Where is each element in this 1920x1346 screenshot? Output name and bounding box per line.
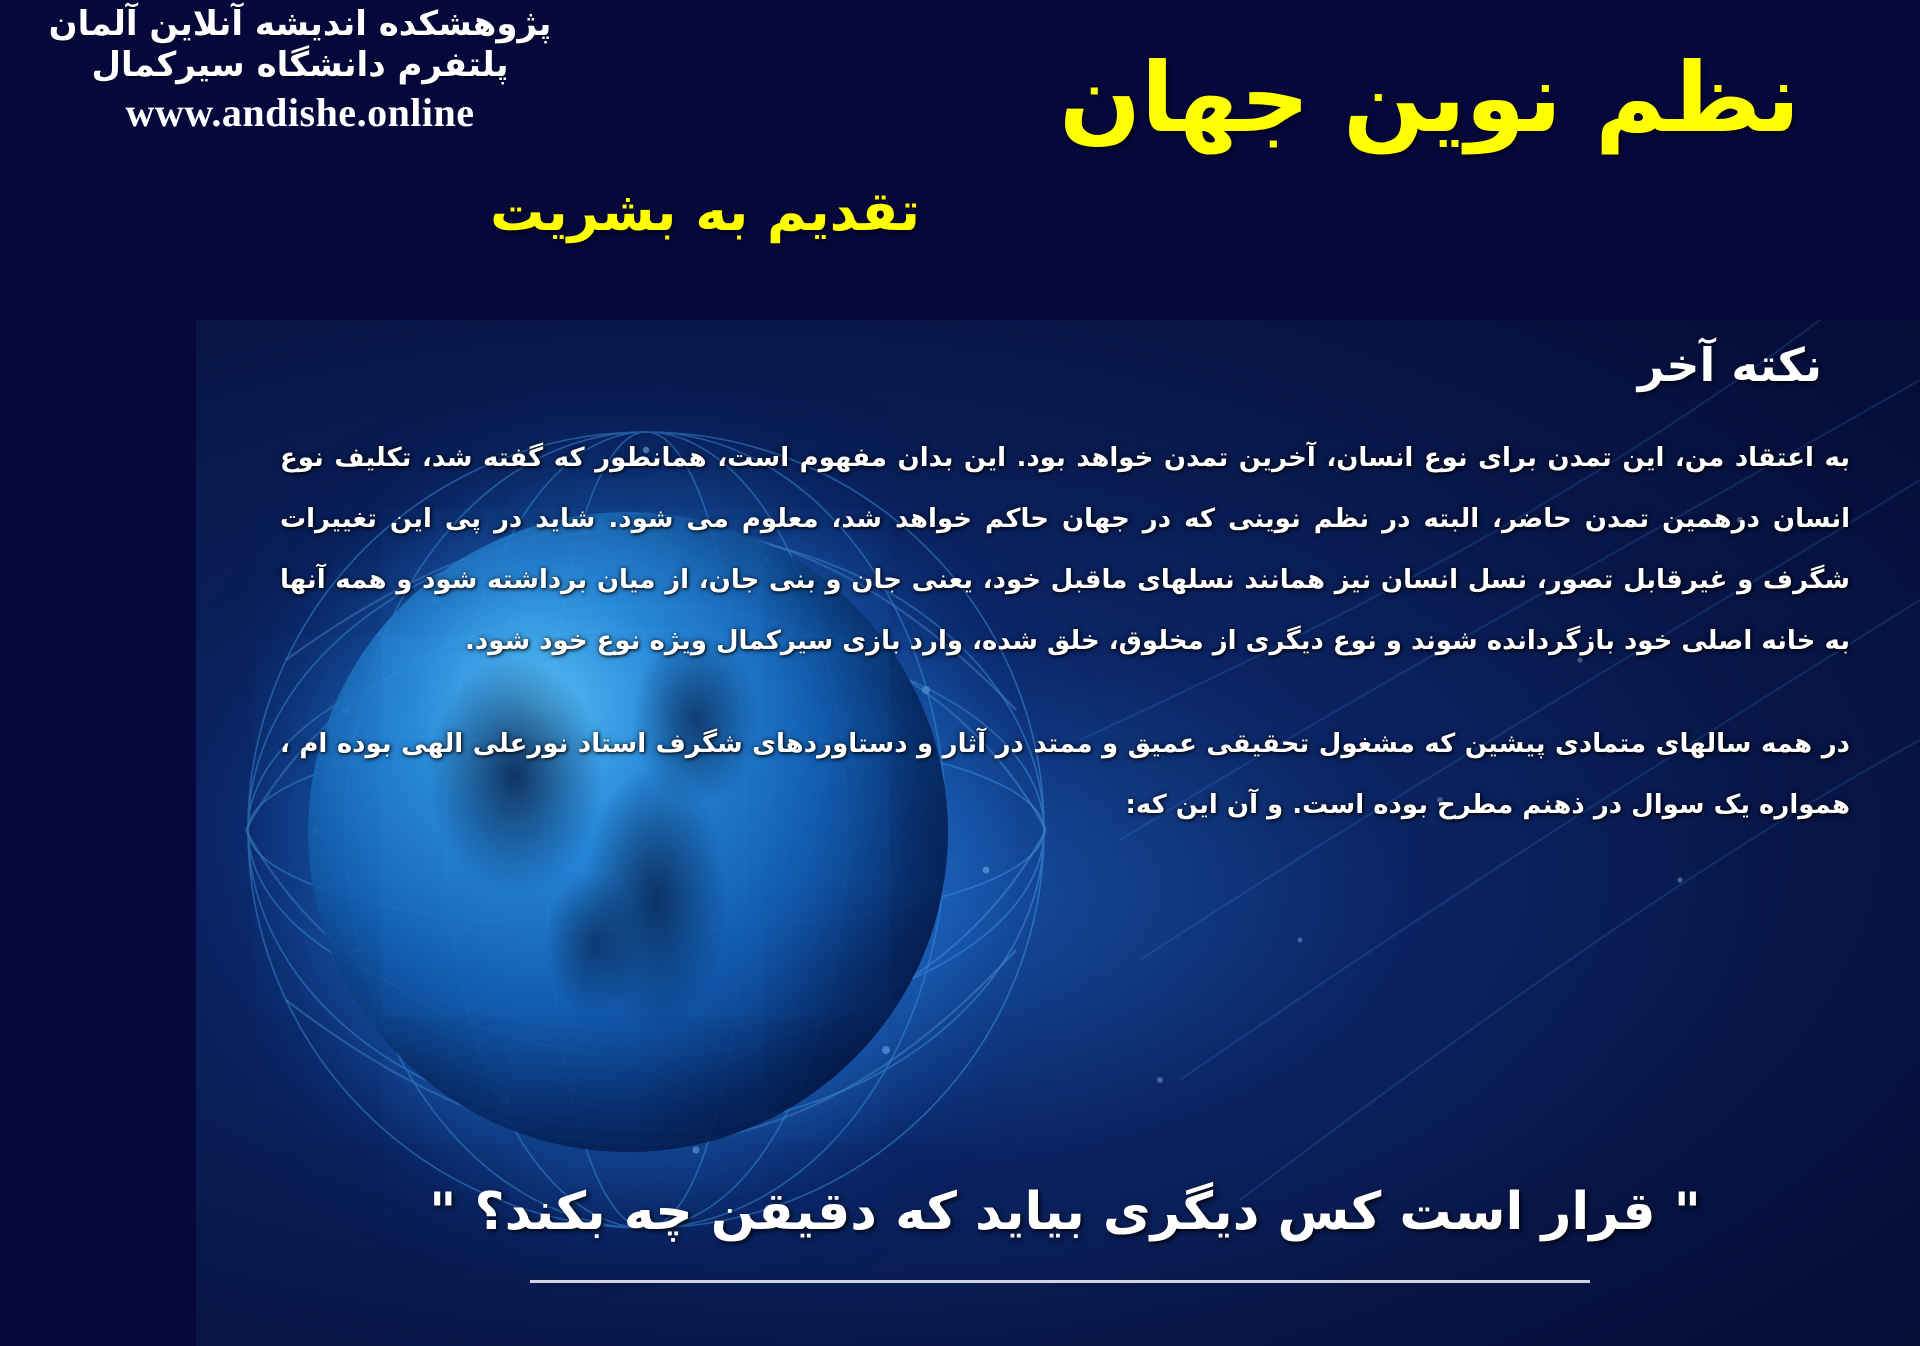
brand-line-1: پژوهشکده اندیشه آنلاین آلمان (0, 4, 600, 45)
content-panel: نکته آخر به اعتقاد من، این تمدن برای نوع… (196, 320, 1920, 1346)
slide-root: پژوهشکده اندیشه آنلاین آلمان پلتفرم دانش… (0, 0, 1920, 1346)
paragraph-2: در همه سالهای متمادی پیشین که مشغول تحقی… (280, 714, 1850, 836)
horizontal-divider (530, 1280, 1590, 1283)
page-subtitle: تقدیم به بشریت (490, 182, 920, 241)
body-text-block: به اعتقاد من، این تمدن برای نوع انسان، آ… (280, 428, 1850, 837)
paragraph-1: به اعتقاد من، این تمدن برای نوع انسان، آ… (280, 428, 1850, 672)
brand-line-2: پلتفرم دانشگاه سیرکمال (0, 45, 600, 86)
pull-quote: " قرار است کس دیگری بیاید که دقیقن چه بک… (280, 1182, 1850, 1242)
brand-website-url[interactable]: www.andishe.online (0, 89, 600, 138)
section-heading: نکته آخر (1638, 338, 1822, 392)
page-title: نظم نوین جهان (1059, 48, 1800, 149)
brand-block: پژوهشکده اندیشه آنلاین آلمان پلتفرم دانش… (0, 4, 600, 138)
